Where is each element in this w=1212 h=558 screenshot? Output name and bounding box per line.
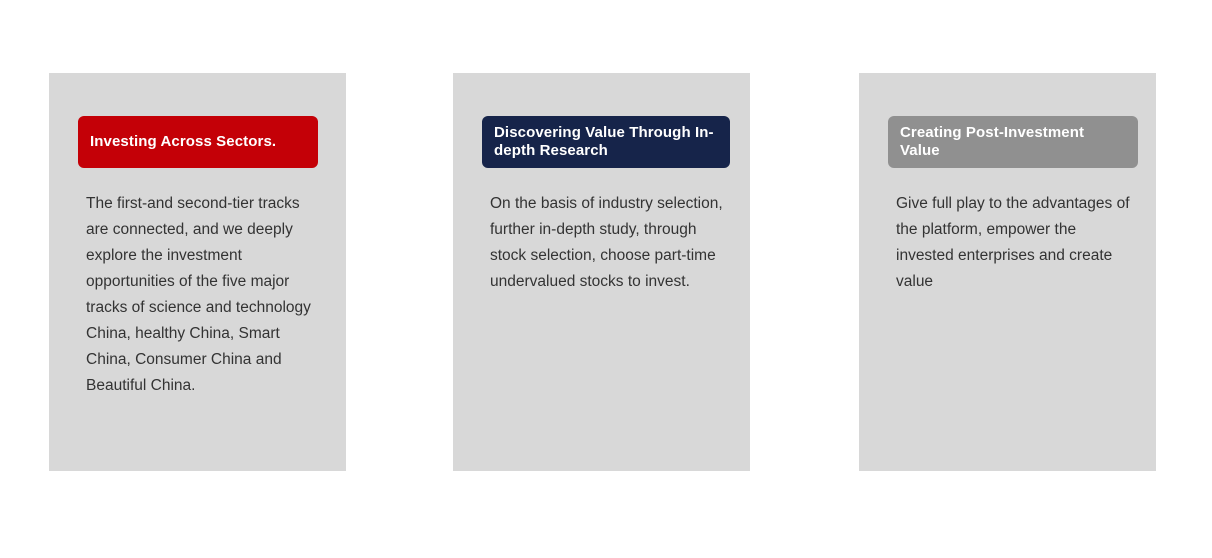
card-body-text: On the basis of industry selection, furt… [490,191,730,295]
card-header-badge: Discovering Value Through In-depth Resea… [482,116,730,168]
card-investing-across-sectors: Investing Across Sectors. The first-and … [49,73,346,471]
card-title: Discovering Value Through In-depth Resea… [494,124,718,160]
card-title: Creating Post-Investment Value [900,124,1126,160]
card-creating-post-investment-value: Creating Post-Investment Value Give full… [859,73,1156,471]
card-body-text: Give full play to the advantages of the … [896,191,1136,295]
cards-board: Investing Across Sectors. The first-and … [0,0,1212,558]
card-header-badge: Creating Post-Investment Value [888,116,1138,168]
card-title: Investing Across Sectors. [90,133,276,151]
card-discovering-value: Discovering Value Through In-depth Resea… [453,73,750,471]
card-body-text: The first-and second-tier tracks are con… [86,191,326,399]
card-header-badge: Investing Across Sectors. [78,116,318,168]
